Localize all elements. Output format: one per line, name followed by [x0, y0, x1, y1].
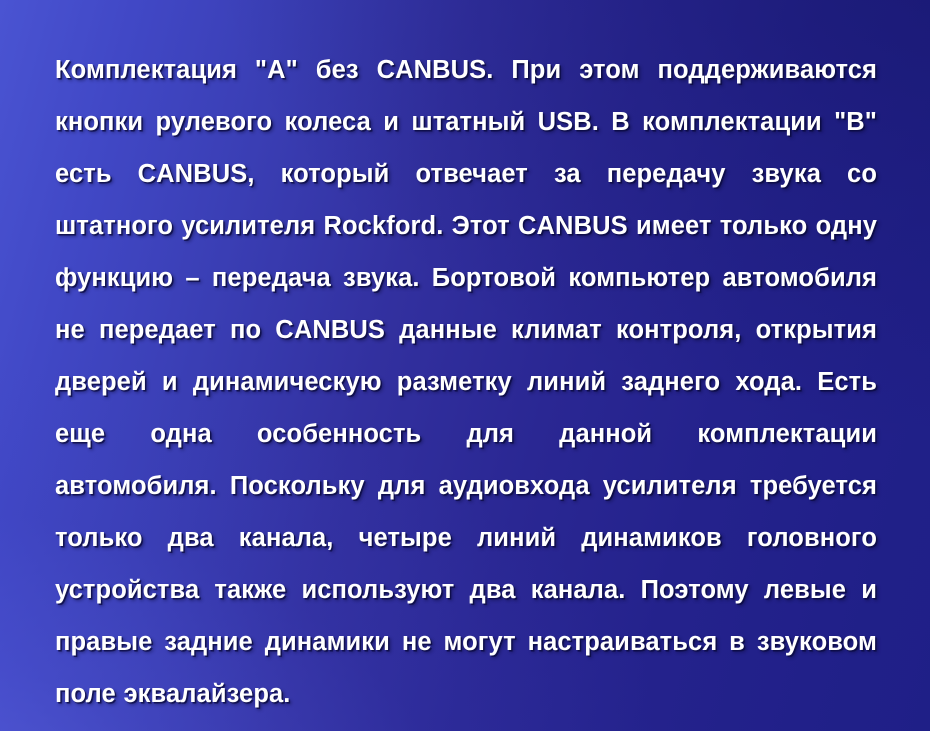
text-line: только два канала, четыре линий динамико… [55, 512, 877, 564]
slide-canvas: Комплектация "A" без CANBUS. При этом по… [0, 0, 930, 731]
text-line-content: кнопки рулевого колеса и штатный USB. В … [55, 96, 877, 148]
text-line-content: функцию – передача звука. Бортовой компь… [55, 252, 877, 304]
text-line-content: Комплектация "A" без CANBUS. При этом по… [55, 44, 877, 96]
text-line: дверей и динамическую разметку линий зад… [55, 356, 877, 408]
text-line: кнопки рулевого колеса и штатный USB. В … [55, 96, 877, 148]
text-line: автомобиля. Поскольку для аудиовхода уси… [55, 460, 877, 512]
text-line-content: штатного усилителя Rockford. Этот CANBUS… [55, 200, 877, 252]
text-line-content: еще одна особенность для данной комплект… [55, 408, 877, 460]
text-line: функцию – передача звука. Бортовой компь… [55, 252, 877, 304]
text-line-content: есть CANBUS, который отвечает за передач… [55, 148, 877, 200]
text-line: есть CANBUS, который отвечает за передач… [55, 148, 877, 200]
text-line: не передает по CANBUS данные климат конт… [55, 304, 877, 356]
text-line: правые задние динамики не могут настраив… [55, 616, 877, 668]
slide-body-text: Комплектация "A" без CANBUS. При этом по… [55, 44, 877, 720]
text-line-content: только два канала, четыре линий динамико… [55, 512, 877, 564]
text-line-content: дверей и динамическую разметку линий зад… [55, 356, 877, 408]
text-line-content: не передает по CANBUS данные климат конт… [55, 304, 877, 356]
text-line-content: автомобиля. Поскольку для аудиовхода уси… [55, 460, 877, 512]
text-line: штатного усилителя Rockford. Этот CANBUS… [55, 200, 877, 252]
text-line: Комплектация "A" без CANBUS. При этом по… [55, 44, 877, 96]
text-line-content: правые задние динамики не могут настраив… [55, 616, 877, 668]
text-line: еще одна особенность для данной комплект… [55, 408, 877, 460]
text-line: устройства также используют два канала. … [55, 564, 877, 616]
text-line: поле эквалайзера. [55, 668, 877, 720]
text-line-content: устройства также используют два канала. … [55, 564, 877, 616]
text-line-content: поле эквалайзера. [55, 668, 877, 720]
